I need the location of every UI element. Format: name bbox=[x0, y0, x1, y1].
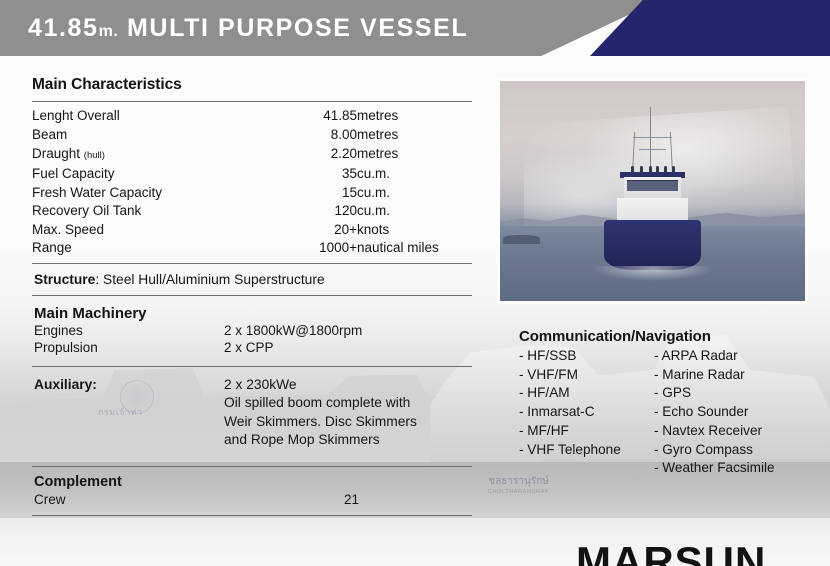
spec-unit: knots bbox=[357, 220, 472, 239]
structure-section: Structure: Steel Hull/Aluminium Superstr… bbox=[32, 264, 472, 295]
spec-unit: cu.m. bbox=[357, 165, 472, 184]
communication-list: - HF/SSB - VHF/FM - HF/AM - Inmarsat-C -… bbox=[519, 347, 654, 478]
photo-islet bbox=[503, 235, 540, 244]
spec-value: 8.00 bbox=[272, 126, 357, 145]
complement-label: Crew bbox=[34, 490, 274, 509]
machinery-value: 2 x CPP bbox=[224, 339, 472, 357]
main-machinery-grid: Engines 2 x 1800kW@1800rpm Propulsion 2 … bbox=[32, 322, 472, 357]
machinery-label: Engines bbox=[34, 322, 224, 340]
table-row: Range 1000+ nautical miles bbox=[32, 239, 472, 258]
spec-unit: cu.m. bbox=[357, 202, 472, 221]
complement-heading: Complement bbox=[32, 467, 472, 490]
vessel-photo-frame bbox=[497, 78, 808, 304]
list-item: - MF/HF bbox=[519, 422, 654, 441]
spec-value: 20+ bbox=[272, 220, 357, 239]
main-machinery-section: Main Machinery Engines 2 x 1800kW@1800rp… bbox=[32, 296, 472, 366]
structure-label: Structure bbox=[34, 272, 95, 287]
spec-label: Lenght Overall bbox=[32, 107, 272, 126]
table-row: Recovery Oil Tank 120 cu.m. bbox=[32, 202, 472, 221]
spec-value: 15 bbox=[272, 183, 357, 202]
list-item: - HF/AM bbox=[519, 384, 654, 403]
spec-label: Fresh Water Capacity bbox=[32, 183, 272, 202]
spec-unit: metres bbox=[357, 107, 472, 126]
spec-label-note: (hull) bbox=[84, 150, 105, 161]
auxiliary-line: and Rope Mop Skimmers bbox=[224, 431, 472, 450]
table-row: Fresh Water Capacity 15 cu.m. bbox=[32, 183, 472, 202]
machinery-value: 2 x 1800kW@1800rpm bbox=[224, 322, 472, 340]
spec-value: 2.20 bbox=[272, 144, 357, 165]
list-item: - VHF Telephone bbox=[519, 441, 654, 460]
list-item: - Echo Sounder bbox=[654, 403, 819, 422]
list-item: - Navtex Receiver bbox=[654, 422, 819, 441]
complement-grid: Crew 21 bbox=[32, 490, 472, 515]
spec-label: Range bbox=[32, 239, 272, 258]
auxiliary-label: Auxiliary: bbox=[34, 376, 224, 450]
main-characteristics-heading: Main Characteristics bbox=[32, 76, 472, 94]
spec-unit: nautical miles bbox=[357, 239, 472, 258]
auxiliary-section: Auxiliary: 2 x 230kWe Oil spilled boom c… bbox=[32, 367, 472, 460]
photo-hull bbox=[604, 220, 702, 271]
divider-under-main-heading bbox=[32, 101, 472, 102]
table-row: Max. Speed 20+ knots bbox=[32, 220, 472, 239]
communication-navigation-section: Communication/Navigation - HF/SSB - VHF/… bbox=[519, 328, 819, 478]
spec-unit: metres bbox=[357, 144, 472, 165]
spec-label-text: Draught bbox=[32, 146, 80, 161]
structure-value: Steel Hull/Aluminium Superstructure bbox=[103, 272, 325, 287]
spec-value: 1000+ bbox=[272, 239, 357, 258]
list-item: - VHF/FM bbox=[519, 366, 654, 385]
list-item: - GPS bbox=[654, 384, 819, 403]
photo-bridge-windows bbox=[627, 180, 679, 191]
list-item: - Marine Radar bbox=[654, 366, 819, 385]
spec-unit: metres bbox=[357, 126, 472, 145]
list-item: - HF/SSB bbox=[519, 347, 654, 366]
auxiliary-grid: Auxiliary: 2 x 230kWe Oil spilled boom c… bbox=[32, 376, 472, 450]
spec-label: Beam bbox=[32, 126, 272, 145]
main-machinery-heading: Main Machinery bbox=[32, 305, 472, 322]
spec-label: Recovery Oil Tank bbox=[32, 202, 272, 221]
table-row: Lenght Overall 41.85 metres bbox=[32, 107, 472, 126]
machinery-label: Propulsion bbox=[34, 339, 224, 357]
main-characteristics-table: Lenght Overall 41.85 metres Beam 8.00 me… bbox=[32, 107, 472, 258]
spec-value: 35 bbox=[272, 165, 357, 184]
complement-value: 21 bbox=[274, 490, 359, 509]
navigation-list: - ARPA Radar - Marine Radar - GPS - Echo… bbox=[654, 347, 819, 478]
list-item: - Weather Facsimile bbox=[654, 459, 819, 478]
auxiliary-line: 2 x 230kWe bbox=[224, 376, 472, 395]
communication-navigation-heading: Communication/Navigation bbox=[519, 328, 819, 345]
complement-section: Complement Crew 21 bbox=[32, 466, 472, 516]
brochure-page: กรมเจ้าท่า ชลธารานุรักษ์ CHOLTHARANURAK … bbox=[0, 0, 830, 566]
communication-navigation-columns: - HF/SSB - VHF/FM - HF/AM - Inmarsat-C -… bbox=[519, 347, 819, 478]
vessel-photo bbox=[500, 81, 805, 301]
table-row: Fuel Capacity 35 cu.m. bbox=[32, 165, 472, 184]
auxiliary-line: Weir Skimmers. Disc Skimmers bbox=[224, 413, 472, 432]
divider-below-complement bbox=[32, 515, 472, 516]
photo-bow-wake bbox=[592, 266, 714, 281]
table-row: Draught (hull) 2.20 metres bbox=[32, 144, 472, 165]
spec-value: 120 bbox=[272, 202, 357, 221]
list-item: - Inmarsat-C bbox=[519, 403, 654, 422]
structure-separator: : bbox=[95, 272, 103, 287]
list-item: - ARPA Radar bbox=[654, 347, 819, 366]
spec-value: 41.85 bbox=[272, 107, 357, 126]
company-logo: MARSUN bbox=[576, 540, 766, 566]
table-row: Beam 8.00 metres bbox=[32, 126, 472, 145]
auxiliary-line: Oil spilled boom complete with bbox=[224, 394, 472, 413]
content-area: Main Characteristics Lenght Overall 41.8… bbox=[0, 0, 830, 566]
spec-unit: cu.m. bbox=[357, 183, 472, 202]
spec-label: Fuel Capacity bbox=[32, 165, 272, 184]
list-item: - Gyro Compass bbox=[654, 441, 819, 460]
main-characteristics-section: Main Characteristics Lenght Overall 41.8… bbox=[32, 76, 472, 460]
photo-mast-yard-upper bbox=[633, 137, 673, 138]
spec-label: Max. Speed bbox=[32, 220, 272, 239]
spec-label: Draught (hull) bbox=[32, 144, 272, 165]
photo-mast-yard-lower bbox=[639, 149, 666, 150]
auxiliary-value: 2 x 230kWe Oil spilled boom complete wit… bbox=[224, 376, 472, 450]
